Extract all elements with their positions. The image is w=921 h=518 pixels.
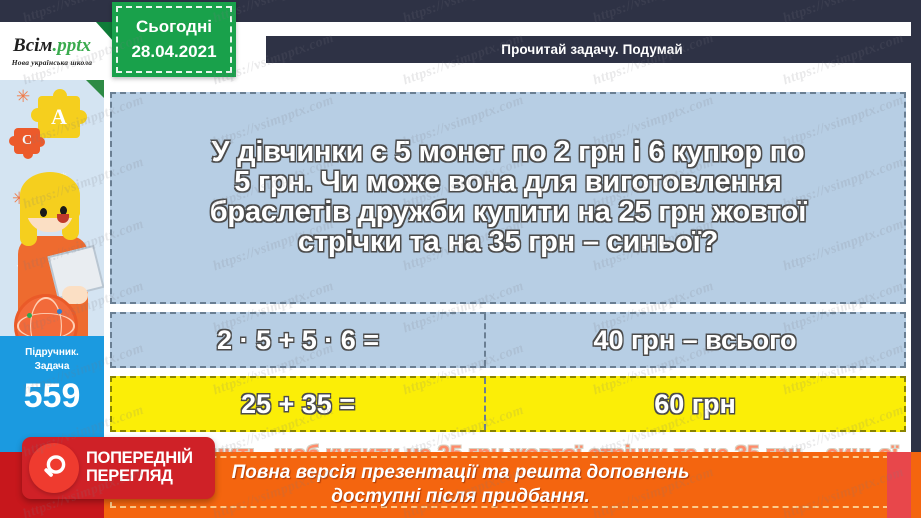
promo-line-2: доступні після придбання.: [232, 485, 690, 509]
star-decoration: ✳: [16, 88, 30, 105]
task-line: браслетів дружби купити на 25 грн жовтої: [210, 198, 807, 228]
promo-text: Повна версія презентації та решта доповн…: [232, 461, 690, 509]
calculation-expression: 2 · 5 + 5 · 6 =: [217, 325, 379, 356]
textbook-label-line2: Задача: [0, 360, 104, 374]
logo-text: Всім.pptx: [13, 36, 91, 55]
preview-badge-labels: ПОПЕРЕДНІЙ ПЕРЕГЛЯД: [86, 450, 193, 486]
puzzle-letter-a: А: [51, 104, 67, 130]
task-line: 5 грн. Чи може вона для виготовлення: [234, 168, 782, 198]
task-text-panel: У дівчинки є 5 монет по 2 грн і 6 купюр …: [110, 92, 906, 304]
promo-right-strip: [887, 452, 911, 518]
preview-badge-line-2: ПЕРЕГЛЯД: [86, 468, 193, 486]
green-corner-decoration: [86, 80, 104, 98]
date-tag-value: 28.04.2021: [131, 42, 216, 62]
calculation-result: 40 грн – всього: [593, 325, 796, 356]
calculation-result-cell: 40 грн – всього: [484, 314, 904, 366]
puzzle-piece-c: С: [14, 128, 40, 154]
slide-right-frame: [911, 0, 921, 518]
task-line: стрічки та на 35 грн – синьої?: [298, 228, 718, 258]
student-illustration: ✳ ✳ ✳ ✳ А С: [0, 80, 104, 336]
task-number: 559: [0, 379, 104, 415]
preview-badge[interactable]: ПОПЕРЕДНІЙ ПЕРЕГЛЯД: [22, 437, 215, 499]
brand-logo[interactable]: Всім.pptx Нова українська школа: [0, 22, 104, 80]
calculation-row: 25 + 35 = 60 грн: [110, 376, 906, 432]
presentation-slide: Всім.pptx Нова українська школа ✳ ✳ ✳ ✳ …: [0, 0, 921, 518]
calculation-expression-cell: 25 + 35 =: [112, 378, 484, 430]
girl-hair-top: [20, 172, 80, 218]
magnifier-icon: [29, 443, 79, 493]
logo-extension: .pptx: [52, 35, 91, 56]
textbook-label-line1: Підручник.: [0, 346, 104, 360]
calculation-expression-cell: 2 · 5 + 5 · 6 =: [112, 314, 484, 366]
slide-title: Прочитай задачу. Подумай: [501, 42, 682, 57]
slide-header-bar: Прочитай задачу. Подумай: [266, 36, 918, 63]
calculation-result-cell: 60 грн: [484, 378, 904, 430]
calculation-row: 2 · 5 + 5 · 6 = 40 грн – всього: [110, 312, 906, 368]
date-tag-label: Сьогодні: [136, 17, 212, 37]
left-sidebar: Всім.pptx Нова українська школа ✳ ✳ ✳ ✳ …: [0, 22, 104, 494]
girl-eye: [40, 208, 47, 217]
calculation-expression: 25 + 35 =: [241, 389, 355, 420]
promo-line-1: Повна версія презентації та решта доповн…: [232, 461, 690, 485]
today-date-tag: Сьогодні 28.04.2021: [112, 2, 236, 77]
task-line: У дівчинки є 5 монет по 2 грн і 6 купюр …: [211, 138, 804, 168]
calculation-result: 60 грн: [654, 389, 736, 420]
preview-badge-line-1: ПОПЕРЕДНІЙ: [86, 450, 193, 468]
logo-subtitle: Нова українська школа: [12, 58, 93, 67]
puzzle-letter-c: С: [22, 133, 32, 149]
logo-main-word: Всім: [13, 35, 52, 56]
puzzle-piece-a: А: [38, 96, 80, 138]
